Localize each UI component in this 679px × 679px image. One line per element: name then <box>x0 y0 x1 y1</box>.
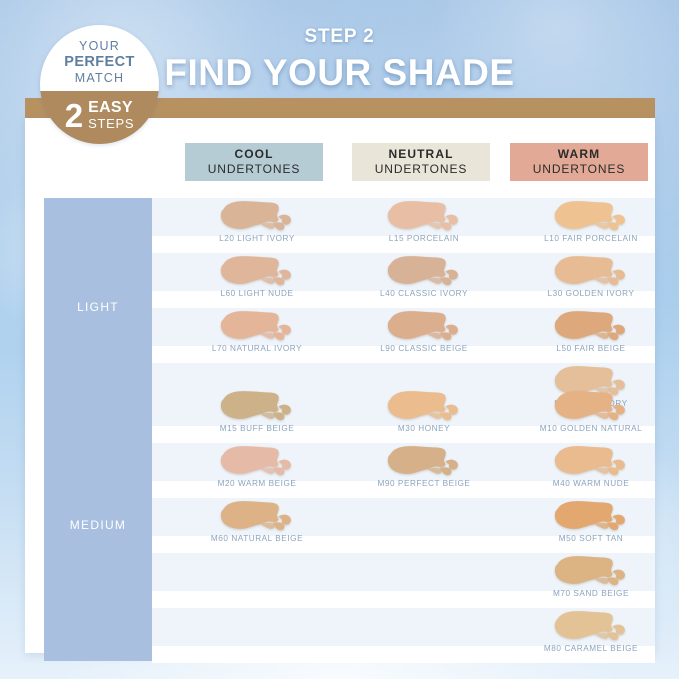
shade-swatch-icon <box>382 390 466 423</box>
shade-name-label: L70 NATURAL IVORY <box>173 344 341 353</box>
shade-cell[interactable]: L40 CLASSIC IVORY <box>340 255 508 298</box>
group-block-medium: MEDIUM <box>44 388 152 661</box>
badge-easy-steps: EASY STEPS <box>88 100 134 131</box>
column-header-title: WARM <box>558 147 600 162</box>
badge-line-perfect: PERFECT <box>64 54 134 71</box>
shade-swatch-icon <box>382 200 466 233</box>
shade-swatch-icon <box>549 390 633 423</box>
shade-name-label: M50 SOFT TAN <box>507 534 675 543</box>
shade-name-label: L15 PORCELAIN <box>340 234 508 243</box>
shade-name-label: L50 FAIR BEIGE <box>507 344 675 353</box>
shade-swatch-icon <box>215 390 299 423</box>
shade-name-label: M90 PERFECT BEIGE <box>340 479 508 488</box>
column-header-neutral: NEUTRALUNDERTONES <box>352 143 490 181</box>
shade-swatch-icon <box>549 310 633 343</box>
badge-label-easy: EASY <box>88 100 133 117</box>
badge-step-number: 2 <box>65 101 83 131</box>
shade-cell[interactable]: M15 BUFF BEIGE <box>173 390 341 433</box>
shade-swatch-icon <box>549 610 633 643</box>
group-block-light: LIGHT <box>44 198 152 416</box>
column-header-title: NEUTRAL <box>388 147 453 162</box>
shade-swatch-icon <box>549 500 633 533</box>
column-header-subtitle: UNDERTONES <box>533 162 626 177</box>
shade-name-label: M60 NATURAL BEIGE <box>173 534 341 543</box>
shade-name-label: L40 CLASSIC IVORY <box>340 289 508 298</box>
badge-line-your: YOUR <box>79 39 120 54</box>
shade-cell[interactable]: L50 FAIR BEIGE <box>507 310 675 353</box>
shade-name-label: M20 WARM BEIGE <box>173 479 341 488</box>
shade-swatch-icon <box>215 200 299 233</box>
shade-name-label: L90 CLASSIC BEIGE <box>340 344 508 353</box>
shade-cell[interactable]: L10 FAIR PORCELAIN <box>507 200 675 243</box>
shade-name-label: M10 GOLDEN NATURAL <box>507 424 675 433</box>
shade-swatch-icon <box>215 500 299 533</box>
shade-swatch-icon <box>382 310 466 343</box>
shade-swatch-icon <box>215 255 299 288</box>
group-label: MEDIUM <box>70 518 126 532</box>
shade-swatch-icon <box>549 255 633 288</box>
shade-cell[interactable]: L70 NATURAL IVORY <box>173 310 341 353</box>
shade-cell[interactable]: M10 GOLDEN NATURAL <box>507 390 675 433</box>
shade-swatch-icon <box>549 555 633 588</box>
shade-swatch-icon <box>215 445 299 478</box>
shade-swatch-icon <box>549 445 633 478</box>
shade-name-label: M80 CARAMEL BEIGE <box>507 644 675 653</box>
shade-swatch-icon <box>549 200 633 233</box>
shade-swatch-icon <box>382 255 466 288</box>
shade-name-label: L10 FAIR PORCELAIN <box>507 234 675 243</box>
column-header-subtitle: UNDERTONES <box>375 162 468 177</box>
shade-swatch-icon <box>382 445 466 478</box>
shade-cell[interactable]: M20 WARM BEIGE <box>173 445 341 488</box>
shade-cell[interactable]: M40 WARM NUDE <box>507 445 675 488</box>
column-header-subtitle: UNDERTONES <box>208 162 301 177</box>
shade-cell[interactable]: L20 LIGHT IVORY <box>173 200 341 243</box>
column-header-warm: WARMUNDERTONES <box>510 143 648 181</box>
shade-name-label: L30 GOLDEN IVORY <box>507 289 675 298</box>
shade-cell[interactable]: L60 LIGHT NUDE <box>173 255 341 298</box>
badge-top-half: YOUR PERFECT MATCH <box>40 25 159 91</box>
column-header-title: COOL <box>234 147 273 162</box>
shade-cell[interactable]: M80 CARAMEL BEIGE <box>507 610 675 653</box>
shade-cell[interactable]: M50 SOFT TAN <box>507 500 675 543</box>
column-header-cool: COOLUNDERTONES <box>185 143 323 181</box>
group-label: LIGHT <box>77 300 119 314</box>
shade-cell[interactable]: L90 CLASSIC BEIGE <box>340 310 508 353</box>
shade-name-label: M30 HONEY <box>340 424 508 433</box>
badge-line-match: MATCH <box>75 71 125 86</box>
shade-cell[interactable]: M70 SAND BEIGE <box>507 555 675 598</box>
shade-cell[interactable]: M30 HONEY <box>340 390 508 433</box>
badge-bottom-half: 2 EASY STEPS <box>40 91 159 144</box>
shade-name-label: L20 LIGHT IVORY <box>173 234 341 243</box>
badge-label-steps: STEPS <box>88 117 134 132</box>
shade-cell[interactable]: L30 GOLDEN IVORY <box>507 255 675 298</box>
shade-name-label: M40 WARM NUDE <box>507 479 675 488</box>
shade-cell[interactable]: L15 PORCELAIN <box>340 200 508 243</box>
shade-name-label: M15 BUFF BEIGE <box>173 424 341 433</box>
shade-swatch-icon <box>215 310 299 343</box>
perfect-match-badge: YOUR PERFECT MATCH 2 EASY STEPS <box>40 25 159 144</box>
shade-name-label: M70 SAND BEIGE <box>507 589 675 598</box>
shade-name-label: L60 LIGHT NUDE <box>173 289 341 298</box>
shade-cell[interactable]: M60 NATURAL BEIGE <box>173 500 341 543</box>
shade-cell[interactable]: M90 PERFECT BEIGE <box>340 445 508 488</box>
